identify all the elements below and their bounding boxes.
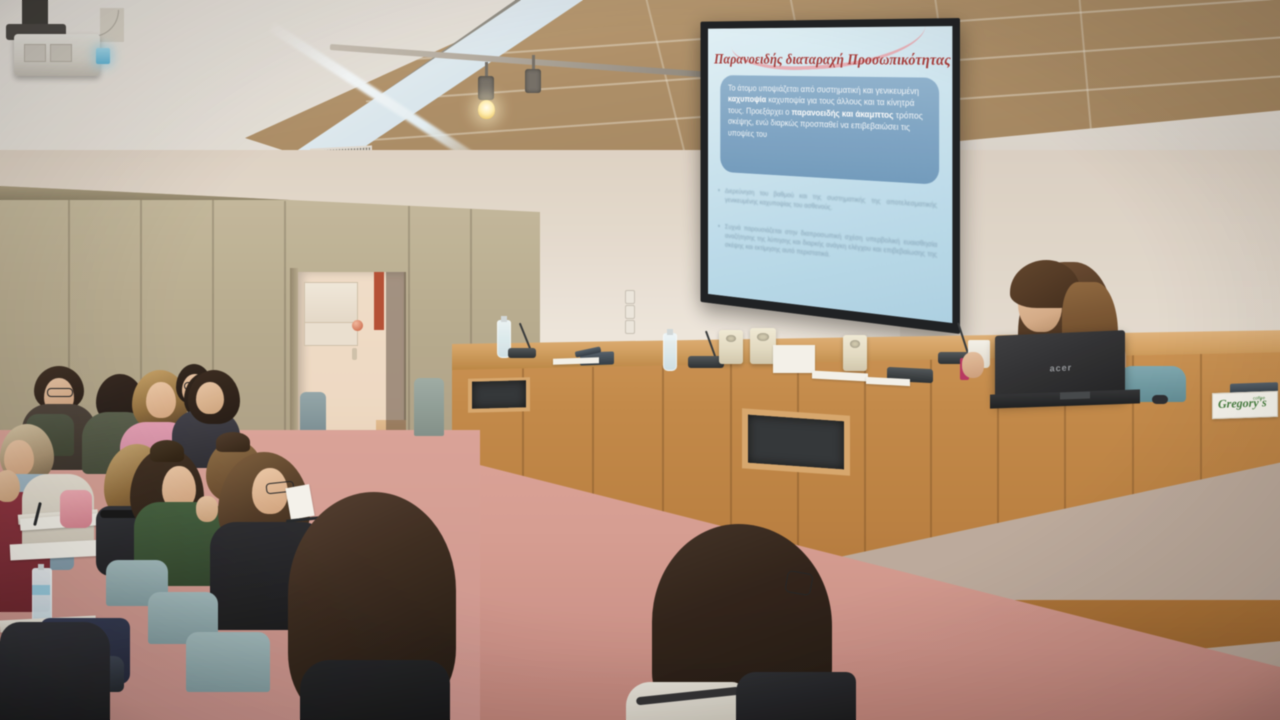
student-back-1-glasses	[47, 388, 73, 397]
slide-body-bold-2: παρανοειδής και άκαμπτος	[792, 107, 894, 119]
slide-body-line-5: υποψίες του	[728, 128, 767, 139]
student-mid-5-topknot	[150, 440, 184, 462]
projector-vent	[24, 44, 46, 62]
track-light-2[interactable]	[525, 55, 541, 93]
water-bottle-2[interactable]	[663, 333, 677, 371]
student-mid-6-bun	[216, 432, 250, 452]
track-light-head	[525, 69, 541, 93]
track-light-1[interactable]	[478, 62, 495, 119]
stacked-side-chair	[414, 378, 444, 436]
computer-mouse[interactable]	[1152, 395, 1168, 404]
projector-lens	[96, 48, 110, 64]
seat-back-3	[186, 632, 270, 692]
hallway-cabinet	[304, 282, 358, 324]
track-light-arm	[532, 55, 535, 69]
ceiling-projector[interactable]	[14, 34, 100, 76]
microphone-base-1[interactable]	[508, 348, 536, 358]
slide-body-line-3a: Προεξάρχει ο	[746, 106, 792, 116]
track-light-arm	[485, 62, 488, 76]
laptop-brand-logo: acer	[1050, 362, 1073, 373]
gregorys-branded-card: Gregory's coffee	[1212, 391, 1278, 419]
wall-switch[interactable]	[625, 320, 635, 334]
bottle-label	[32, 585, 50, 595]
papers-on-desk-2[interactable]	[773, 345, 815, 373]
light-bulb-icon	[478, 100, 495, 119]
podium-speaker-3	[843, 335, 867, 371]
slide-surface: Παρανοειδής διαταραχή Προσωπικότητας (Ι)…	[708, 26, 952, 323]
slide-bullet-2: Συχνά παρουσιάζεται στην διαπροσωπική σχ…	[725, 222, 937, 269]
student-back-6-face	[196, 382, 224, 414]
podium-speaker-1	[719, 330, 743, 364]
lecturer-hand	[962, 352, 984, 378]
hallway-cabinet-lower	[304, 322, 358, 346]
gregorys-logo-subtext: coffee	[1253, 395, 1265, 400]
slide-body-line-3b: τρόπος	[896, 110, 923, 121]
slide-textbox: Το άτομο υποψιάζεται από συστηματική και…	[720, 75, 939, 185]
lecture-hall-photo: Παρανοειδής διαταραχή Προσωπικότητας (Ι)…	[0, 0, 1280, 720]
slide-bullet-1: Διερεύνηση του βαθμού και της συστηματικ…	[725, 186, 937, 220]
student-mid-5-hand	[196, 496, 218, 522]
projection-screen[interactable]: Παρανοειδής διαταραχή Προσωπικότητας (Ι)…	[701, 18, 960, 334]
pink-cup[interactable]	[60, 490, 92, 528]
foreground-student-2-glasses	[784, 570, 813, 596]
track-light-head	[478, 76, 494, 100]
wall-switch[interactable]	[625, 290, 635, 304]
projector-vent	[50, 44, 72, 62]
podium-monitor-alcove-1[interactable]	[472, 380, 526, 408]
water-bottle-student[interactable]	[32, 568, 52, 624]
foreground-student-1-shoulders	[300, 660, 450, 720]
student-back-3-face	[146, 382, 176, 418]
fire-alarm-icon	[352, 320, 363, 331]
wall-switch[interactable]	[625, 305, 635, 319]
podium-monitor-alcove-2[interactable]	[748, 415, 844, 470]
hallway-red-wall-strip	[374, 272, 384, 330]
wall-hook-icon	[352, 348, 357, 360]
laptop-trackpad[interactable]	[1060, 391, 1090, 399]
foreground-student-3-body	[0, 622, 110, 720]
foreground-student-2-shoulders	[736, 672, 856, 720]
slide-title: Παρανοειδής διαταραχή Προσωπικότητας (Ι)	[714, 52, 943, 70]
slide-body-bold-1: καχυποψία	[728, 94, 766, 104]
